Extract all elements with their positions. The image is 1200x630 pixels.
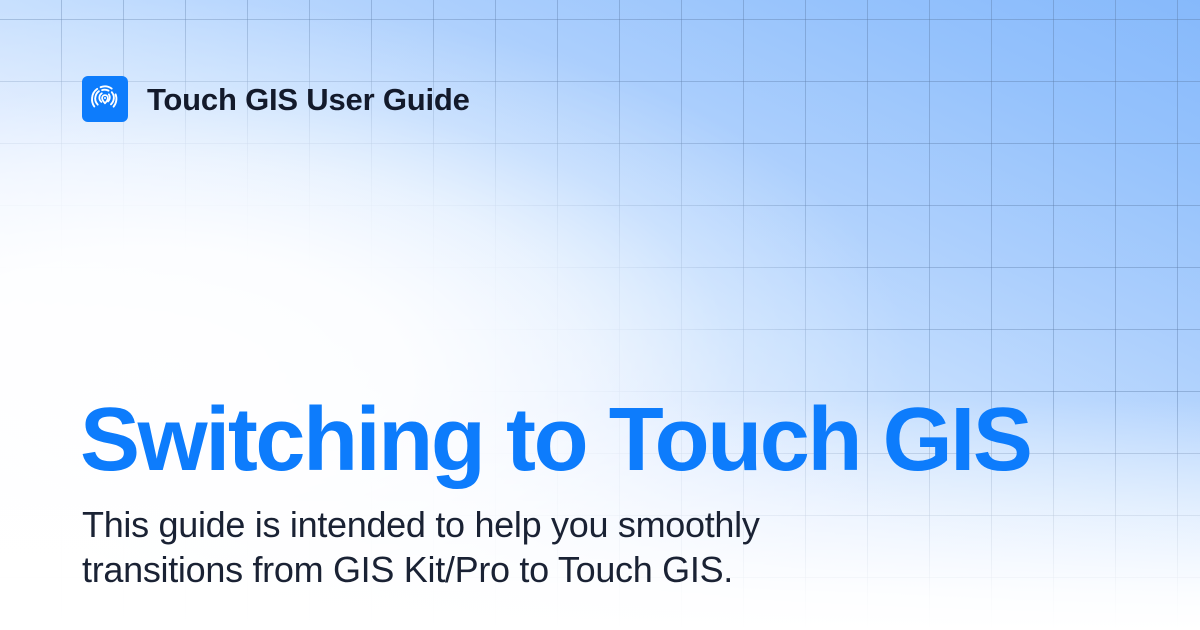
banner-content: Touch GIS User Guide Switching to Touch … (0, 0, 1200, 630)
brand-lockup: Touch GIS User Guide (82, 76, 470, 122)
page-title: Switching to Touch GIS (80, 392, 1030, 489)
page-subtitle: This guide is intended to help you smoot… (82, 502, 842, 593)
fingerprint-location-pin-icon (82, 76, 128, 122)
og-banner: Touch GIS User Guide Switching to Touch … (0, 0, 1200, 630)
page-subtitle-line: This guide is intended to help you smoot… (82, 502, 842, 547)
brand-title: Touch GIS User Guide (147, 84, 470, 115)
page-subtitle-line: transitions from GIS Kit/Pro to Touch GI… (82, 547, 842, 592)
